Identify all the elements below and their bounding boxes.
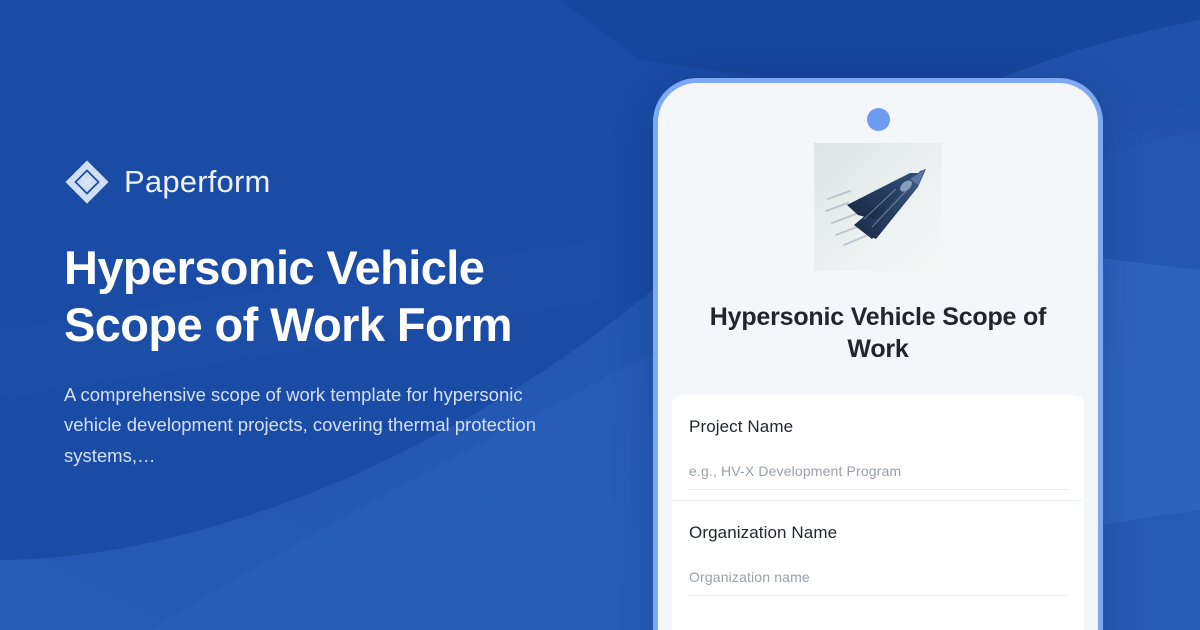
page-title: Hypersonic Vehicle Scope of Work Form — [64, 239, 584, 354]
background-band-2 — [1100, 258, 1200, 525]
aircraft-illustration — [814, 143, 942, 271]
page-description: A comprehensive scope of work template f… — [64, 380, 569, 472]
background-band-3 — [1100, 510, 1200, 630]
form-field-project-name: Project Name e.g., HV-X Development Prog… — [672, 395, 1084, 500]
background-band-1 — [1100, 95, 1200, 270]
paperform-diamond-logo-icon — [64, 159, 110, 205]
field-label-organization-name: Organization Name — [689, 523, 1067, 543]
phone-mockup: Hypersonic Vehicle Scope of Work Project… — [653, 78, 1103, 630]
hypersonic-aircraft-thumbnail-icon — [814, 143, 942, 271]
camera-dot-icon — [867, 108, 890, 131]
hero-content: Paperform Hypersonic Vehicle Scope of Wo… — [64, 0, 604, 630]
form-field-organization-name: Organization Name Organization name — [672, 500, 1084, 606]
form-card: Project Name e.g., HV-X Development Prog… — [672, 395, 1084, 630]
brand-lockup: Paperform — [64, 159, 604, 205]
brand-name: Paperform — [124, 166, 271, 197]
field-label-project-name: Project Name — [689, 417, 1067, 437]
project-name-input[interactable]: e.g., HV-X Development Program — [689, 463, 1067, 490]
form-title: Hypersonic Vehicle Scope of Work — [680, 301, 1076, 365]
organization-name-input[interactable]: Organization name — [689, 569, 1067, 596]
